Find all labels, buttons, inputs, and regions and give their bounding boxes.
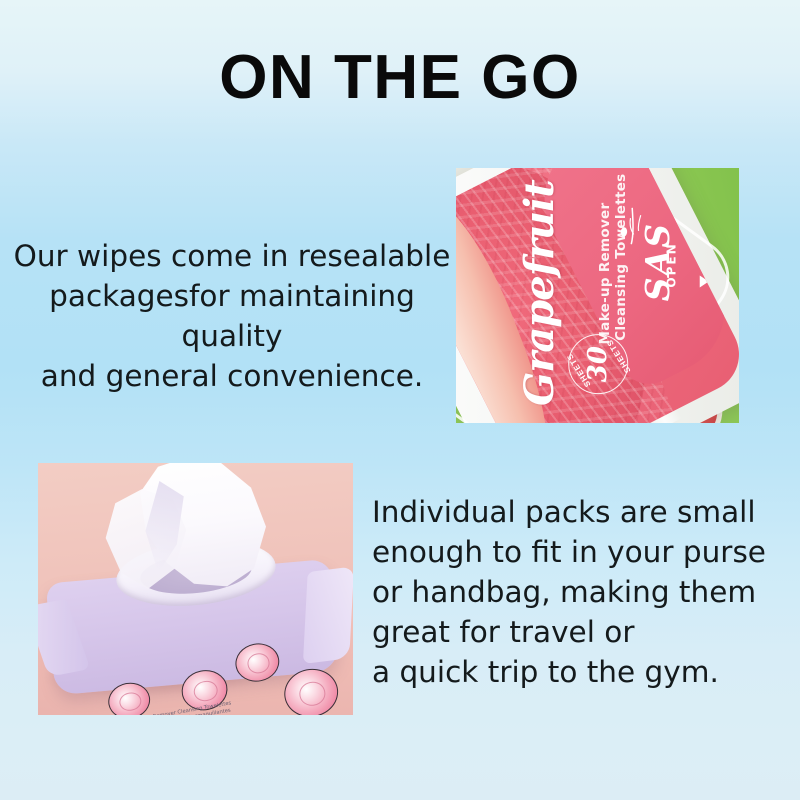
- product-photo-grapefruit: Grapefruit Make-up Remover Cleansing Tow…: [456, 168, 739, 423]
- poster-canvas: ON THE GO Our wipes come in resealable p…: [0, 0, 800, 800]
- copy-block-resealable: Our wipes come in resealable packagesfor…: [8, 236, 456, 396]
- open-label: OPEN: [665, 242, 679, 287]
- grapefruit-flavor-script: Grapefruit: [516, 180, 563, 406]
- product-photo-rose: SAS Makeup Remover Cleansing Towelettes …: [38, 463, 353, 715]
- sheet-count-badge: SHEETS 30 SHEETS: [568, 334, 628, 394]
- pack-right-fold: [303, 566, 353, 664]
- copy-block-individual-packs: Individual packs are small enough to fit…: [372, 492, 772, 692]
- page-title: ON THE GO: [0, 44, 800, 112]
- rose-motif: [105, 679, 153, 715]
- grapefruit-descriptor-line1: Make-up Remover: [597, 203, 613, 345]
- pack-left-fold: [38, 599, 90, 677]
- grapefruit-descriptor-line2: Cleansing Towelettes: [613, 173, 629, 340]
